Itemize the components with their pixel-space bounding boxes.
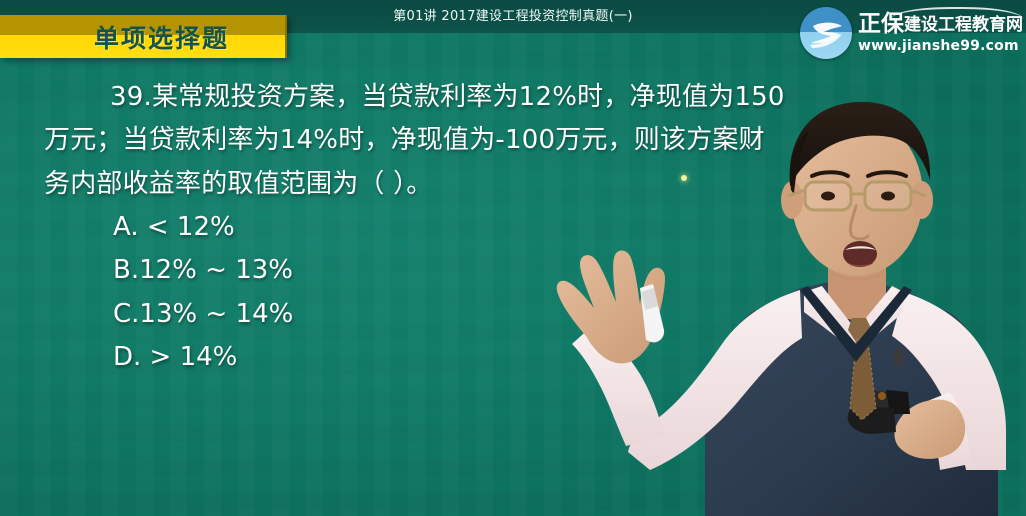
option-b: B.12% ~ 13% [113,257,293,283]
brand-url: www.jianshe99.com [858,39,1023,53]
option-d: D. > 14% [113,344,237,370]
section-banner: 单项选择题 [0,15,287,58]
jianshe99-logo-icon [800,7,852,59]
question-line-3: 务内部收益率的取值范围为（ ）。 [44,171,432,197]
brand-text-block: 正保建设工程教育网 www.jianshe99.com [858,13,1023,53]
question-line-2: 万元；当贷款利率为14%时，净现值为-100万元，则该方案财 [44,127,765,153]
section-banner-label: 单项选择题 [0,15,287,58]
laser-pointer-dot [681,175,687,181]
option-c: C.13% ~ 14% [113,301,293,327]
question-line-1: 39.某常规投资方案，当贷款利率为12%时，净现值为150 [110,84,785,110]
brand-logo: 正保建设工程教育网 www.jianshe99.com [800,6,1020,60]
brand-name-cn: 正保建设工程教育网 [858,13,1023,36]
lecture-slide-stage: 第01讲 2017建设工程投资控制真题(一) 单项选择题 正保建设工程教育网 w… [0,0,1026,516]
brand-arc-decoration [891,7,1023,19]
option-a: A. < 12% [113,214,235,240]
brand-name-suffix: 建设工程教育网 [904,17,1023,34]
slide-text-layer: 39.某常规投资方案，当贷款利率为12%时，净现值为150 万元；当贷款利率为1… [0,0,1026,516]
